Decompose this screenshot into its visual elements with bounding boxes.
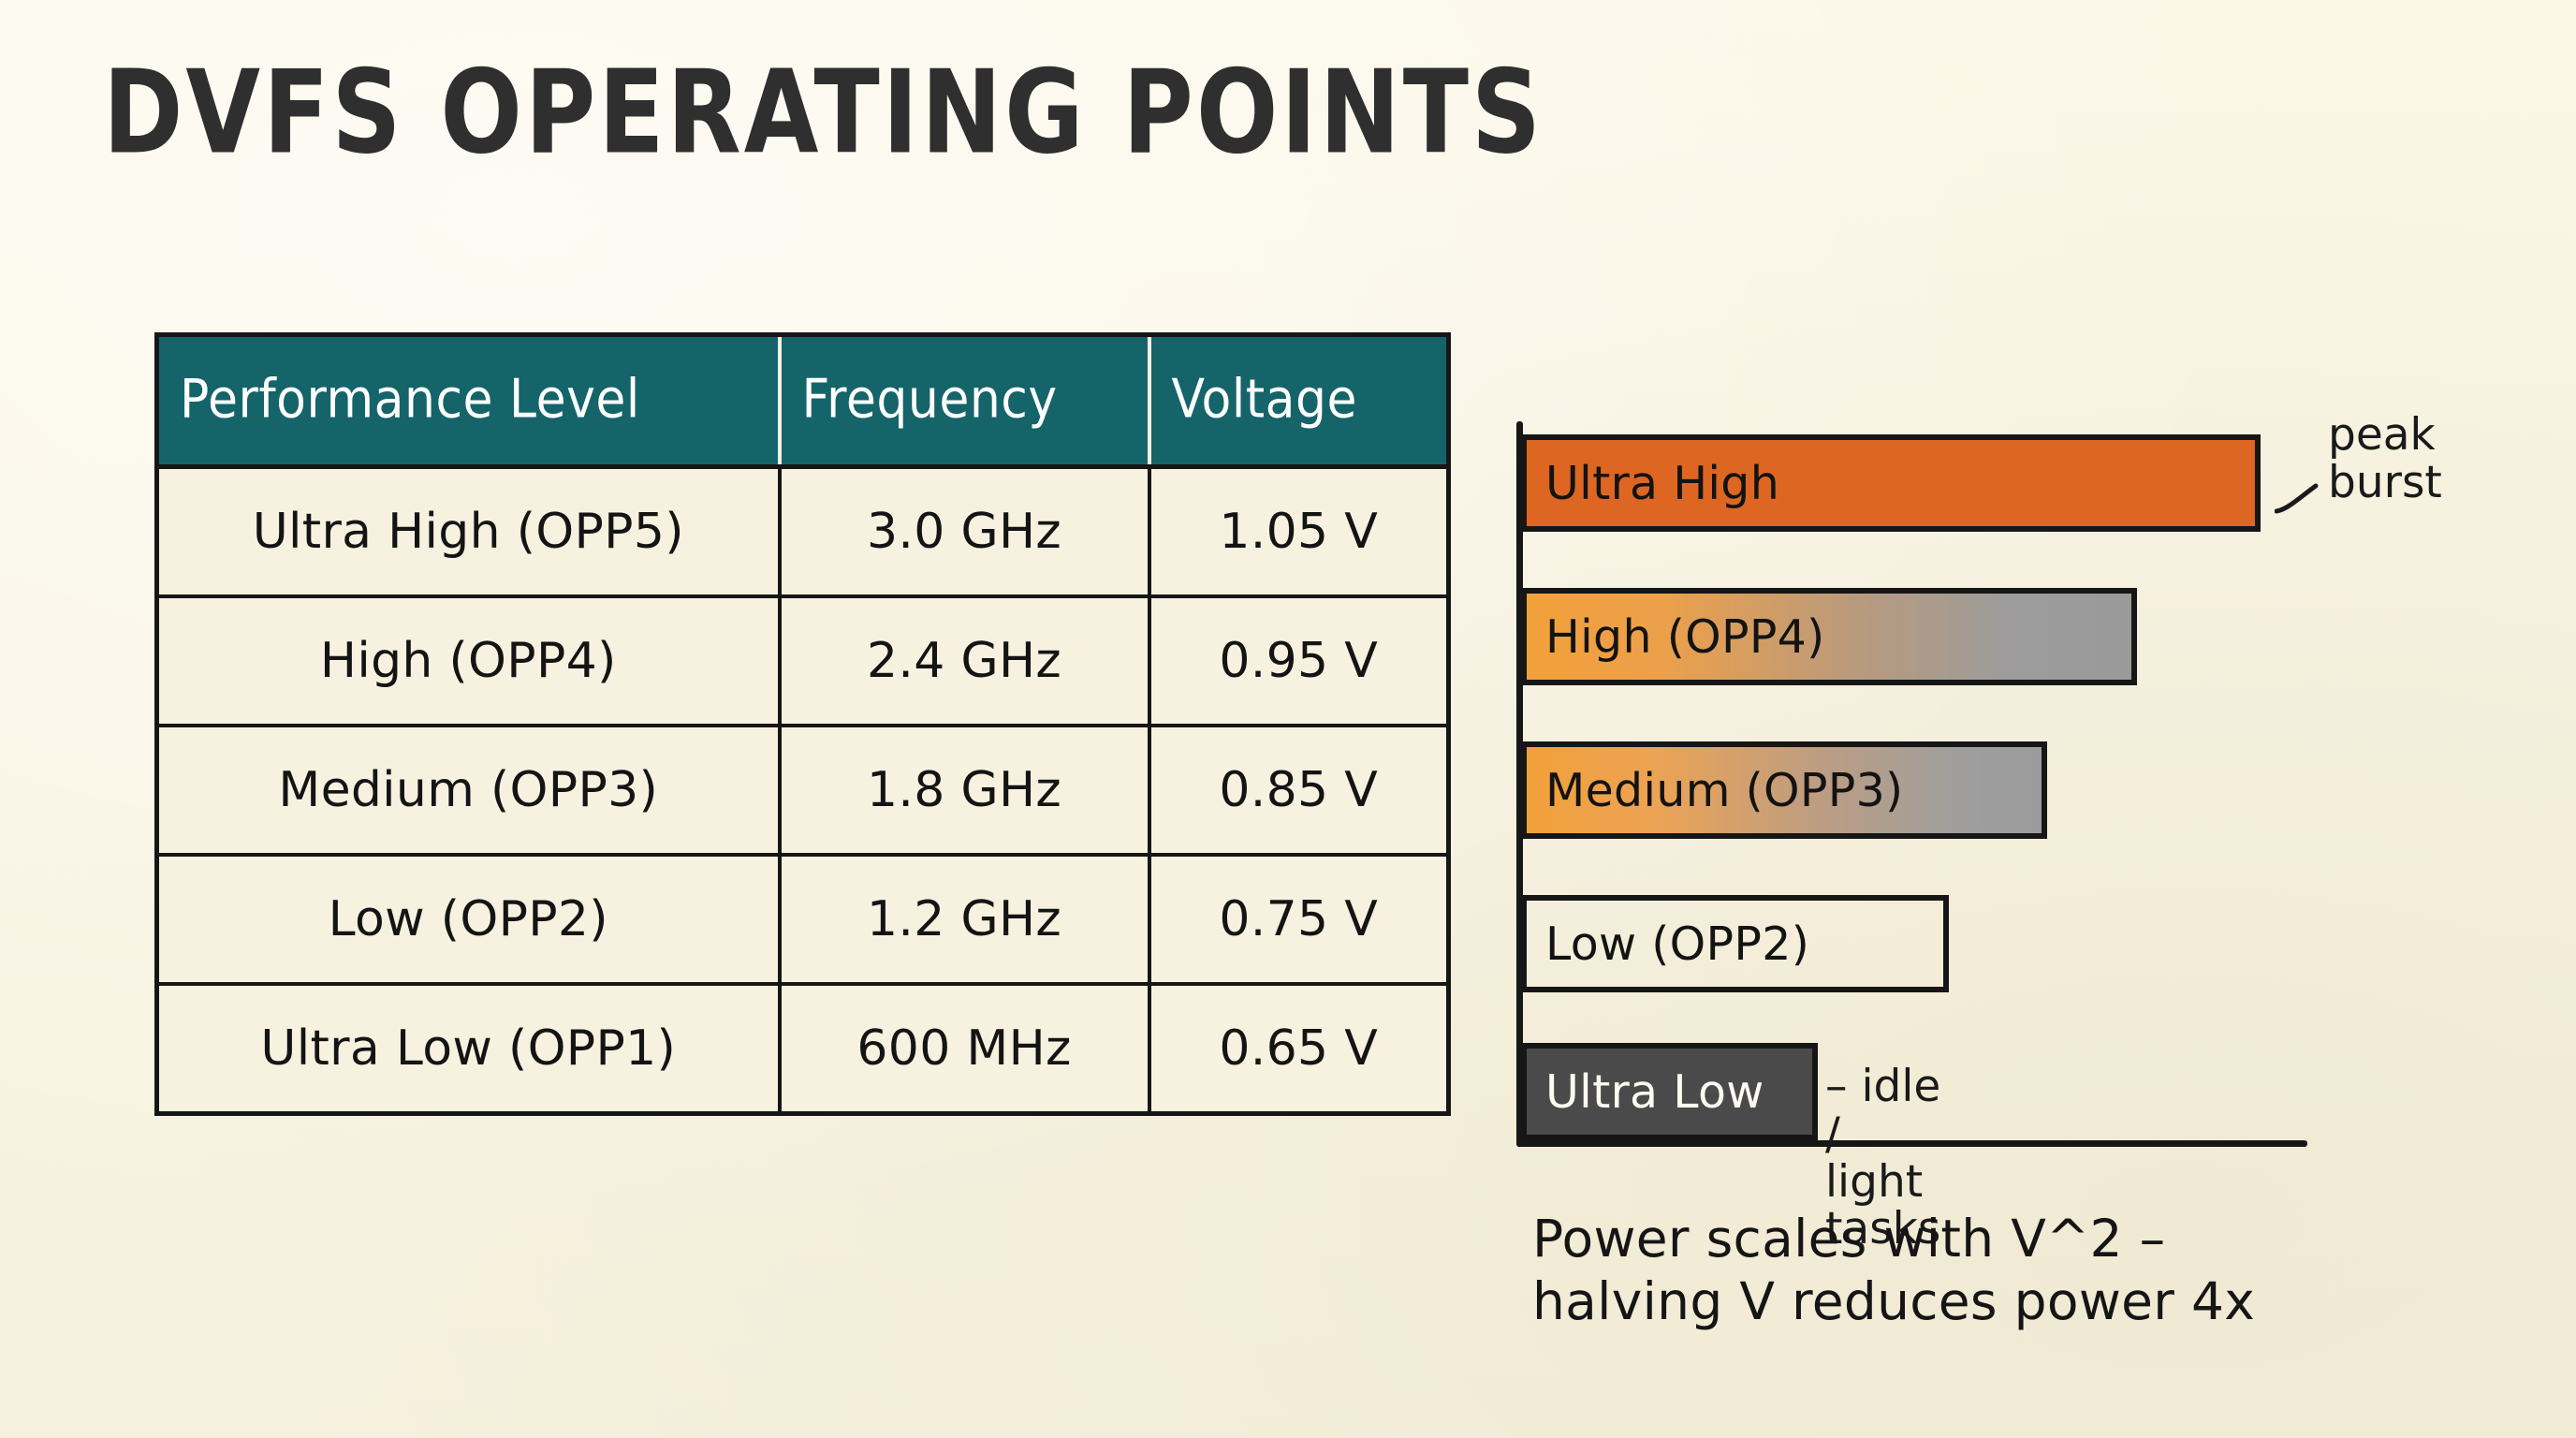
page-title: DVFS OPERATING POINTS [103,45,1544,180]
table-row: Ultra Low (OPP1) 600 MHz 0.65 V [157,984,1449,1114]
table-row: Low (OPP2) 1.2 GHz 0.75 V [157,855,1449,984]
table-row: Ultra High (OPP5) 3.0 GHz 1.05 V [157,467,1449,597]
infographic-canvas: DVFS OPERATING POINTS Performance Level … [0,0,2576,1438]
table-row: Medium (OPP3) 1.8 GHz 0.85 V [157,726,1449,855]
bar-medium: Medium (OPP3) [1521,741,2047,839]
table-row: High (OPP4) 2.4 GHz 0.95 V [157,596,1449,726]
cell-frequency: 600 MHz [780,984,1149,1114]
cell-frequency: 3.0 GHz [780,467,1149,597]
performance-bar-chart: Ultra High peak burst High (OPP4) Medium… [1516,421,2452,1161]
cell-frequency: 2.4 GHz [780,596,1149,726]
column-header-performance-level: Performance Level [157,328,780,473]
cell-level: Low (OPP2) [157,855,780,984]
column-header-frequency: Frequency [780,328,1149,473]
cell-level: Medium (OPP3) [157,726,780,855]
bar-high: High (OPP4) [1521,588,2137,685]
annotation-peak-burst: peak burst [2328,412,2442,507]
cell-level: Ultra High (OPP5) [157,467,780,597]
cell-frequency: 1.8 GHz [780,726,1149,855]
bar-label-ultra-low: Ultra Low [1527,1065,1764,1119]
table-header: Performance Level Frequency Voltage [157,335,1449,467]
cell-level: High (OPP4) [157,596,780,726]
cell-voltage: 1.05 V [1149,467,1449,597]
cell-voltage: 0.75 V [1149,855,1449,984]
bar-ultra-low: Ultra Low [1521,1043,1818,1140]
table-header-row: Performance Level Frequency Voltage [157,335,1449,467]
cell-level: Ultra Low (OPP1) [157,984,780,1114]
bar-ultra-high: Ultra High [1521,434,2261,532]
bar-label-low: Low (OPP2) [1527,917,1809,971]
bar-label-medium: Medium (OPP3) [1527,764,1903,817]
cell-frequency: 1.2 GHz [780,855,1149,984]
bar-low: Low (OPP2) [1521,895,1949,992]
cell-voltage: 0.85 V [1149,726,1449,855]
power-scaling-caption: Power scales with V^2 – halving V reduce… [1532,1208,2506,1333]
cell-voltage: 0.65 V [1149,984,1449,1114]
cell-voltage: 0.95 V [1149,596,1449,726]
bar-label-high: High (OPP4) [1527,610,1825,664]
column-header-voltage: Voltage [1149,328,1449,473]
bar-label-ultra-high: Ultra High [1527,457,1779,510]
operating-points-table: Performance Level Frequency Voltage Ultr… [154,332,1451,1116]
leader-line-peak-burst [2275,483,2320,515]
table-body: Ultra High (OPP5) 3.0 GHz 1.05 V High (O… [157,467,1449,1114]
